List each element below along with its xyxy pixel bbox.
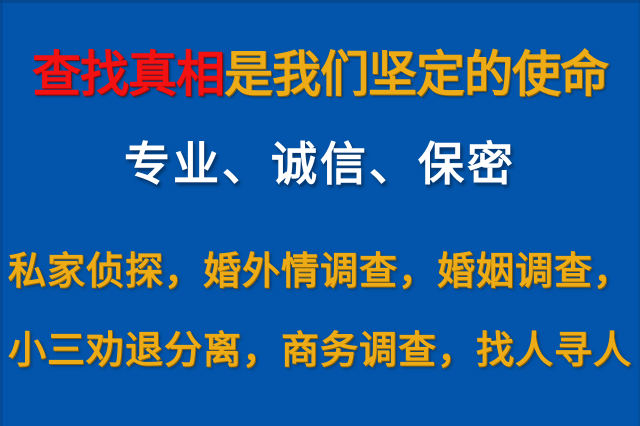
slogan: 专业、诚信、保密	[0, 141, 640, 187]
banner-top-edge	[0, 0, 640, 3]
headline-rest: 是我们坚定的使命	[224, 50, 608, 99]
services-line-2: 小三劝退分离，商务调查，找人寻人	[0, 331, 640, 369]
headline: 查找真相是我们坚定的使命	[0, 50, 640, 99]
headline-emphasis: 查找真相	[32, 50, 224, 99]
services-line-1: 私家侦探，婚外情调查，婚姻调查，	[0, 252, 640, 290]
advertisement-banner: 查找真相是我们坚定的使命 专业、诚信、保密 私家侦探，婚外情调查，婚姻调查， 小…	[0, 0, 640, 426]
